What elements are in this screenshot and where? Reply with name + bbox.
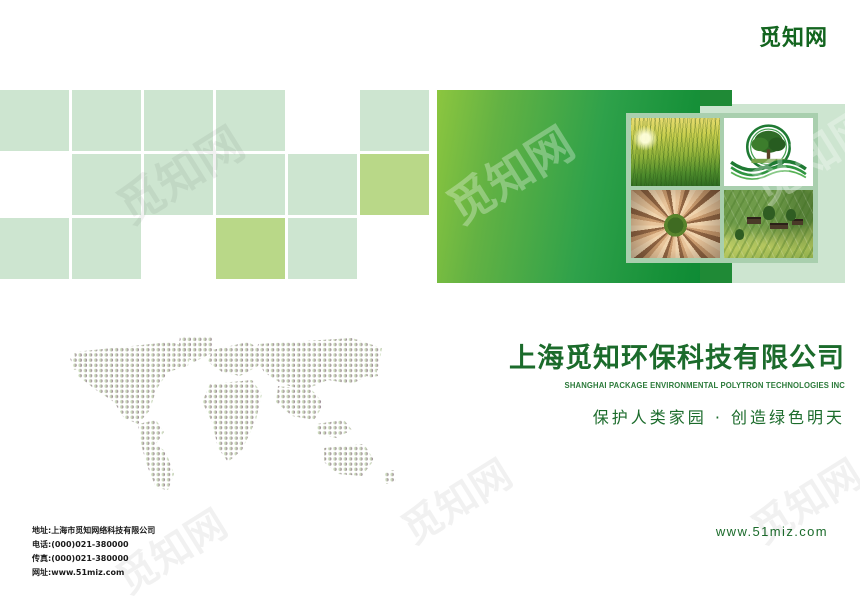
- checker-cell-r1-c2: [144, 154, 213, 215]
- checker-cell-r0-c0: [0, 90, 69, 151]
- terrace-tree: [763, 206, 775, 220]
- photo-collage: [626, 113, 818, 263]
- world-map-dots: [52, 332, 436, 492]
- wheat-field-photo: [631, 118, 720, 186]
- eco-tree-icon: [724, 118, 813, 186]
- checker-cell-r1-c3: [216, 154, 285, 215]
- checker-cell-r0-c2: [144, 90, 213, 151]
- dark-green-chip-top: [700, 90, 732, 106]
- contact-fax: 传真:(000)021-380000: [32, 552, 155, 566]
- footer-contact-info: 地址:上海市觅知网络科技有限公司 电话:(000)021-380000 传真:(…: [32, 524, 155, 580]
- brochure-cover-page: 觅知网: [0, 0, 860, 608]
- checker-cell-r1-c5: [360, 154, 429, 215]
- company-slogan: 保护人类家园 · 创造绿色明天: [500, 404, 845, 428]
- dark-green-chip-bottom: [700, 262, 732, 283]
- company-identity-block: 上海觅知环保科技有限公司 SHANGHAI PACKAGE ENVIRONMEN…: [500, 343, 845, 428]
- eco-tree-logo-photo: [724, 118, 813, 186]
- checker-cell-r2-c5: [360, 218, 429, 279]
- checker-cell-r2-c4: [288, 218, 357, 279]
- checker-cell-r1-c1: [72, 154, 141, 215]
- checker-cell-r2-c3: [216, 218, 285, 279]
- checker-cell-r2-c0: [0, 218, 69, 279]
- terrace-tree: [735, 229, 744, 239]
- hands-circle-photo: [631, 190, 720, 258]
- world-map-svg: [52, 332, 436, 492]
- rice-terrace-photo: [724, 190, 813, 258]
- checker-cell-r2-c1: [72, 218, 141, 279]
- site-logo: 觅知网: [759, 20, 828, 52]
- checker-cell-r1-c4: [288, 154, 357, 215]
- checker-cell-r0-c5: [360, 90, 429, 151]
- company-name-en: SHANGHAI PACKAGE ENVIRONMENTAL POLYTRON …: [514, 381, 845, 390]
- terrace-hut: [770, 223, 788, 229]
- checker-cell-r1-c0: [0, 154, 69, 215]
- checker-cell-r0-c3: [216, 90, 285, 151]
- checker-cell-r0-c4: [288, 90, 357, 151]
- company-name-cn: 上海觅知环保科技有限公司: [500, 343, 845, 375]
- footer-url[interactable]: www.51miz.com: [716, 524, 828, 539]
- contact-phone: 电话:(000)021-380000: [32, 538, 155, 552]
- terrace-tree: [786, 209, 796, 221]
- contact-website: 网址:www.51miz.com: [32, 566, 155, 580]
- contact-address: 地址:上海市觅知网络科技有限公司: [32, 524, 155, 538]
- terrace-hut: [747, 217, 761, 224]
- checker-cell-r2-c2: [144, 218, 213, 279]
- checker-cell-r0-c1: [72, 90, 141, 151]
